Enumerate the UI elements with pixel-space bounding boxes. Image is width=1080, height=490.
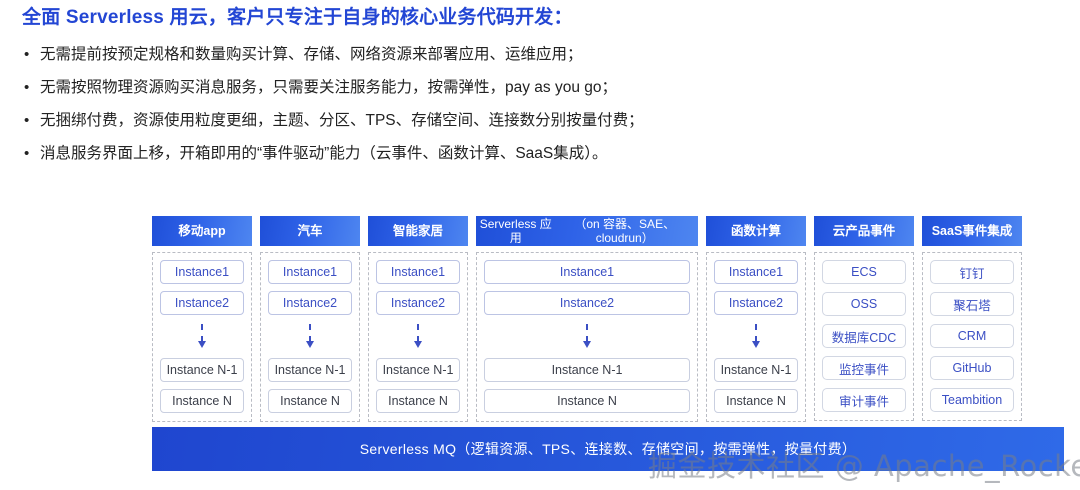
arrow-head	[198, 341, 206, 348]
instance-box[interactable]: Instance1	[160, 260, 244, 284]
column-body-smart-home: Instance1Instance2Instance N-1Instance N	[368, 252, 468, 422]
column-header-cloud-product-events[interactable]: 云产品事件	[814, 216, 914, 246]
column-header-automobile[interactable]: 汽车	[260, 216, 360, 246]
column-header-line1: Serverless 应用	[478, 217, 553, 245]
column-header-saas-event-integration[interactable]: SaaS事件集成	[922, 216, 1022, 246]
event-source-chip[interactable]: 钉钉	[930, 260, 1014, 284]
event-source-chip[interactable]: 数据库CDC	[822, 324, 906, 348]
diagram-column-cloud-product-events: 云产品事件ECSOSS数据库CDC监控事件审计事件	[814, 216, 914, 421]
column-body-cloud-product-events: ECSOSS数据库CDC监控事件审计事件	[814, 252, 914, 421]
arrow-head	[752, 341, 760, 348]
column-body-serverless-app: Instance1Instance2Instance N-1Instance N	[476, 252, 698, 422]
column-header-function-compute[interactable]: 函数计算	[706, 216, 806, 246]
instance-box[interactable]: Instance2	[160, 291, 244, 315]
event-source-chip[interactable]: 聚石塔	[930, 292, 1014, 316]
bullet-text: 无需提前按预定规格和数量购买计算、存储、网络资源来部署应用、运维应用；	[40, 46, 583, 63]
column-header-mobile-app[interactable]: 移动app	[152, 216, 252, 246]
instance-box[interactable]: Instance N	[376, 389, 460, 413]
event-source-chip[interactable]: ECS	[822, 260, 906, 284]
bullet-item: •消息服务界面上移，开箱即用的“事件驱动”能力（云事件、函数计算、SaaS集成）…	[22, 137, 1062, 170]
instance-box[interactable]: Instance N	[160, 389, 244, 413]
arrow-head	[414, 341, 422, 348]
column-body-mobile-app: Instance1Instance2Instance N-1Instance N	[152, 252, 252, 422]
bullet-item: •无捆绑付费，资源使用粒度更细，主题、分区、TPS、存储空间、连接数分别按量付费…	[22, 104, 1062, 137]
instance-box[interactable]: Instance1	[714, 260, 798, 284]
bullet-text: 无捆绑付费，资源使用粒度更细，主题、分区、TPS、存储空间、连接数分别按量付费；	[40, 112, 644, 129]
event-source-chip[interactable]: 监控事件	[822, 356, 906, 380]
serverless-mq-footer-bar: Serverless MQ（逻辑资源、TPS、连接数、存储空间，按需弹性，按量付…	[152, 427, 1064, 471]
instance-box[interactable]: Instance2	[714, 291, 798, 315]
diagram-column-saas-event-integration: SaaS事件集成钉钉聚石塔CRMGitHubTeambition	[922, 216, 1022, 421]
instance-box[interactable]: Instance2	[484, 291, 690, 315]
column-header-line1: 函数计算	[731, 224, 781, 238]
bullet-item: •无需提前按预定规格和数量购买计算、存储、网络资源来部署应用、运维应用；	[22, 38, 1062, 71]
instance-box[interactable]: Instance N-1	[376, 358, 460, 382]
column-header-smart-home[interactable]: 智能家居	[368, 216, 468, 246]
column-body-saas-event-integration: 钉钉聚石塔CRMGitHubTeambition	[922, 252, 1022, 421]
column-body-function-compute: Instance1Instance2Instance N-1Instance N	[706, 252, 806, 422]
slide-text-block: 全面 Serverless 用云，客户只专注于自身的核心业务代码开发： •无需提…	[22, 4, 1062, 170]
column-header-line1: 汽车	[297, 224, 322, 238]
arrow-stem	[417, 324, 419, 342]
instance-box[interactable]: Instance1	[268, 260, 352, 284]
column-header-line1: 云产品事件	[833, 224, 896, 238]
column-header-line1: 移动app	[178, 224, 225, 238]
bullet-text: 无需按照物理资源购买消息服务，只需要关注服务能力，按需弹性，pay as you…	[40, 79, 617, 96]
arrow-stem	[755, 324, 757, 342]
diagram-column-automobile: 汽车Instance1Instance2Instance N-1Instance…	[260, 216, 360, 422]
ellipsis-arrow-down-icon	[714, 322, 798, 351]
page-title: 全面 Serverless 用云，客户只专注于自身的核心业务代码开发：	[22, 4, 1062, 32]
instance-box[interactable]: Instance1	[484, 260, 690, 284]
arrow-stem	[201, 324, 203, 342]
bullet-dot-icon: •	[24, 137, 29, 170]
column-header-line1: 智能家居	[393, 224, 443, 238]
instance-box[interactable]: Instance N	[714, 389, 798, 413]
diagram-column-function-compute: 函数计算Instance1Instance2Instance N-1Instan…	[706, 216, 806, 422]
bullet-item: •无需按照物理资源购买消息服务，只需要关注服务能力，按需弹性，pay as yo…	[22, 71, 1062, 104]
bullet-list: •无需提前按预定规格和数量购买计算、存储、网络资源来部署应用、运维应用；•无需按…	[22, 38, 1062, 170]
ellipsis-arrow-down-icon	[160, 322, 244, 351]
instance-box[interactable]: Instance N-1	[484, 358, 690, 382]
diagram-column-serverless-app: Serverless 应用（on 容器、SAE、cloudrun）Instanc…	[476, 216, 698, 422]
event-source-chip[interactable]: OSS	[822, 292, 906, 316]
diagram-column-smart-home: 智能家居Instance1Instance2Instance N-1Instan…	[368, 216, 468, 422]
instance-box[interactable]: Instance N	[484, 389, 690, 413]
arrow-stem	[586, 324, 588, 342]
arrow-head	[583, 341, 591, 348]
instance-box[interactable]: Instance N	[268, 389, 352, 413]
instance-box[interactable]: Instance2	[268, 291, 352, 315]
arrow-stem	[309, 324, 311, 342]
instance-box[interactable]: Instance2	[376, 291, 460, 315]
instance-box[interactable]: Instance N-1	[714, 358, 798, 382]
instance-box[interactable]: Instance N-1	[268, 358, 352, 382]
bullet-dot-icon: •	[24, 38, 29, 71]
instance-box[interactable]: Instance N-1	[160, 358, 244, 382]
column-header-line2: （on 容器、SAE、cloudrun）	[553, 217, 696, 245]
column-body-automobile: Instance1Instance2Instance N-1Instance N	[260, 252, 360, 422]
column-header-line1: SaaS事件集成	[932, 224, 1013, 238]
ellipsis-arrow-down-icon	[376, 322, 460, 351]
diagram-column-mobile-app: 移动appInstance1Instance2Instance N-1Insta…	[152, 216, 252, 422]
event-source-chip[interactable]: CRM	[930, 324, 1014, 348]
instance-box[interactable]: Instance1	[376, 260, 460, 284]
ellipsis-arrow-down-icon	[268, 322, 352, 351]
arrow-head	[306, 341, 314, 348]
event-source-chip[interactable]: 审计事件	[822, 388, 906, 412]
event-source-chip[interactable]: Teambition	[930, 388, 1014, 412]
ellipsis-arrow-down-icon	[484, 322, 690, 351]
column-header-serverless-app[interactable]: Serverless 应用（on 容器、SAE、cloudrun）	[476, 216, 698, 246]
bullet-text: 消息服务界面上移，开箱即用的“事件驱动”能力（云事件、函数计算、SaaS集成）。	[40, 145, 608, 162]
bullet-dot-icon: •	[24, 104, 29, 137]
event-source-chip[interactable]: GitHub	[930, 356, 1014, 380]
diagram-columns: 移动appInstance1Instance2Instance N-1Insta…	[152, 216, 1064, 420]
bullet-dot-icon: •	[24, 71, 29, 104]
